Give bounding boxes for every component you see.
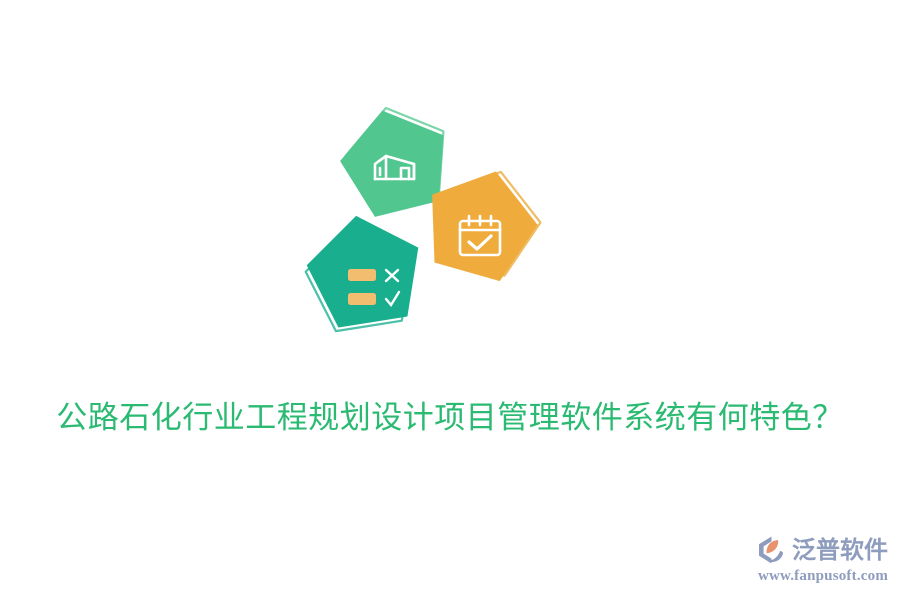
teal-pentagon [300, 207, 429, 334]
fanpu-swoosh-logo-icon [756, 535, 790, 565]
brand-row: 泛普软件 [756, 534, 890, 566]
checklist-bar-1 [348, 269, 376, 281]
hero-graphic [290, 93, 570, 355]
page-canvas: 公路石化行业工程规划设计项目管理软件系统有何特色？ 泛普软件 www.fanpu… [0, 0, 900, 600]
page-title: 公路石化行业工程规划设计项目管理软件系统有何特色？ [0, 396, 900, 440]
teal-pentagon-body [300, 207, 428, 331]
brand-url: www.fanpusoft.com [756, 567, 890, 585]
brand-name: 泛普软件 [792, 535, 888, 565]
checklist-bar-2 [348, 293, 376, 305]
brand-watermark: 泛普软件 www.fanpusoft.com [756, 534, 890, 586]
